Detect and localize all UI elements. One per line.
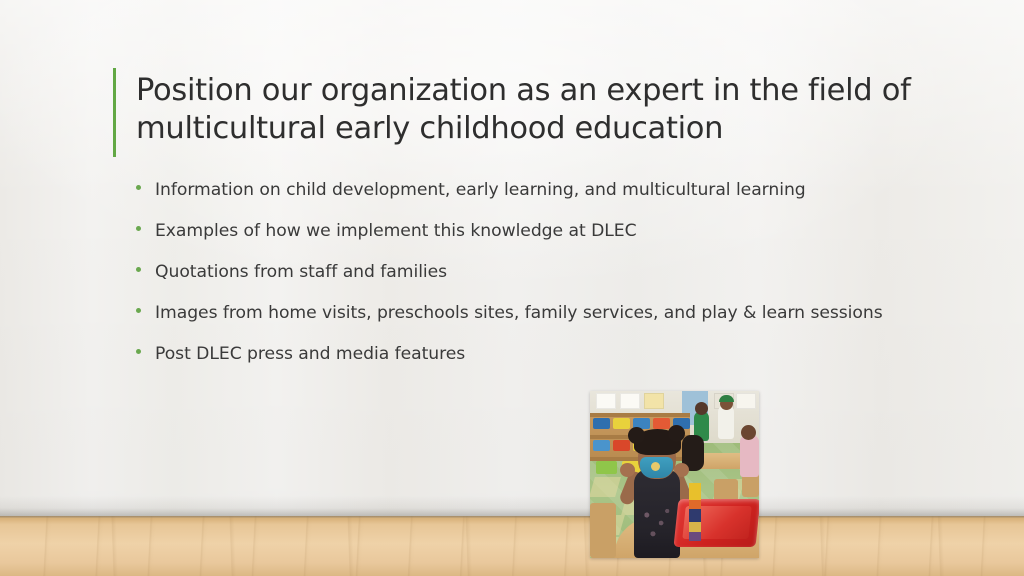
photo-wall-paper: [596, 393, 616, 409]
list-item: Images from home visits, preschools site…: [133, 298, 933, 328]
slide: Position our organization as an expert i…: [0, 0, 1024, 576]
bullet-list: Information on child development, early …: [133, 175, 933, 380]
list-item-label: Examples of how we implement this knowle…: [155, 216, 933, 246]
photo-tower-segment: [689, 532, 701, 541]
photo-wall-paper: [644, 393, 664, 409]
photo-child-green-cap: [719, 395, 734, 402]
photo-tower-segment: [689, 522, 701, 532]
photo-tower-segment: [689, 509, 701, 522]
list-item: Information on child development, early …: [133, 175, 933, 205]
bullet-dot-icon: [136, 308, 141, 313]
list-item-label: Images from home visits, preschools site…: [155, 298, 933, 328]
floor-wall-seam: [0, 516, 1024, 518]
photo-wall-paper: [736, 393, 756, 409]
photo-shelf-rail: [590, 413, 690, 417]
bullet-dot-icon: [136, 226, 141, 231]
bullet-dot-icon: [136, 185, 141, 190]
photo-girl-hair-puff: [668, 425, 685, 442]
photo-storage-bin: [593, 418, 610, 429]
list-item-label: Information on child development, early …: [155, 175, 933, 205]
classroom-photo-content: [590, 391, 759, 558]
photo-girl-fist: [620, 463, 635, 477]
page-title: Position our organization as an expert i…: [136, 72, 936, 148]
photo-storage-bin: [613, 418, 630, 429]
photo-background-child: [740, 435, 759, 477]
photo-storage-bin: [593, 440, 610, 451]
photo-storage-bin: [613, 440, 630, 451]
photo-background-child-head: [741, 425, 756, 440]
photo-tower-segment: [689, 483, 701, 500]
photo-wall-paper: [620, 393, 640, 409]
classroom-photo: [590, 391, 759, 558]
photo-background-child-head: [695, 402, 708, 415]
list-item: Examples of how we implement this knowle…: [133, 216, 933, 246]
photo-storage-bin: [596, 461, 617, 474]
bullet-dot-icon: [136, 267, 141, 272]
photo-girl-face-mask: [640, 457, 673, 478]
photo-chair: [590, 503, 616, 558]
list-item-label: Post DLEC press and media features: [155, 339, 933, 369]
photo-girl-body: [634, 469, 680, 558]
wood-floor: [0, 516, 1024, 576]
photo-craft-stick-tower: [689, 483, 701, 541]
list-item: Post DLEC press and media features: [133, 339, 933, 369]
photo-tower-segment: [689, 500, 701, 509]
photo-girl-dress-pattern: [640, 505, 674, 545]
photo-background-child: [718, 405, 734, 439]
photo-storage-bin: [653, 418, 670, 429]
photo-girl-hair-puff: [628, 427, 645, 444]
wall-bottom-shadow: [0, 496, 1024, 516]
list-item: Quotations from staff and families: [133, 257, 933, 287]
photo-mask-pattern-dot: [651, 462, 660, 471]
bullet-dot-icon: [136, 349, 141, 354]
title-accent-bar: [113, 68, 116, 157]
photo-red-tray: [673, 499, 759, 547]
list-item-label: Quotations from staff and families: [155, 257, 933, 287]
